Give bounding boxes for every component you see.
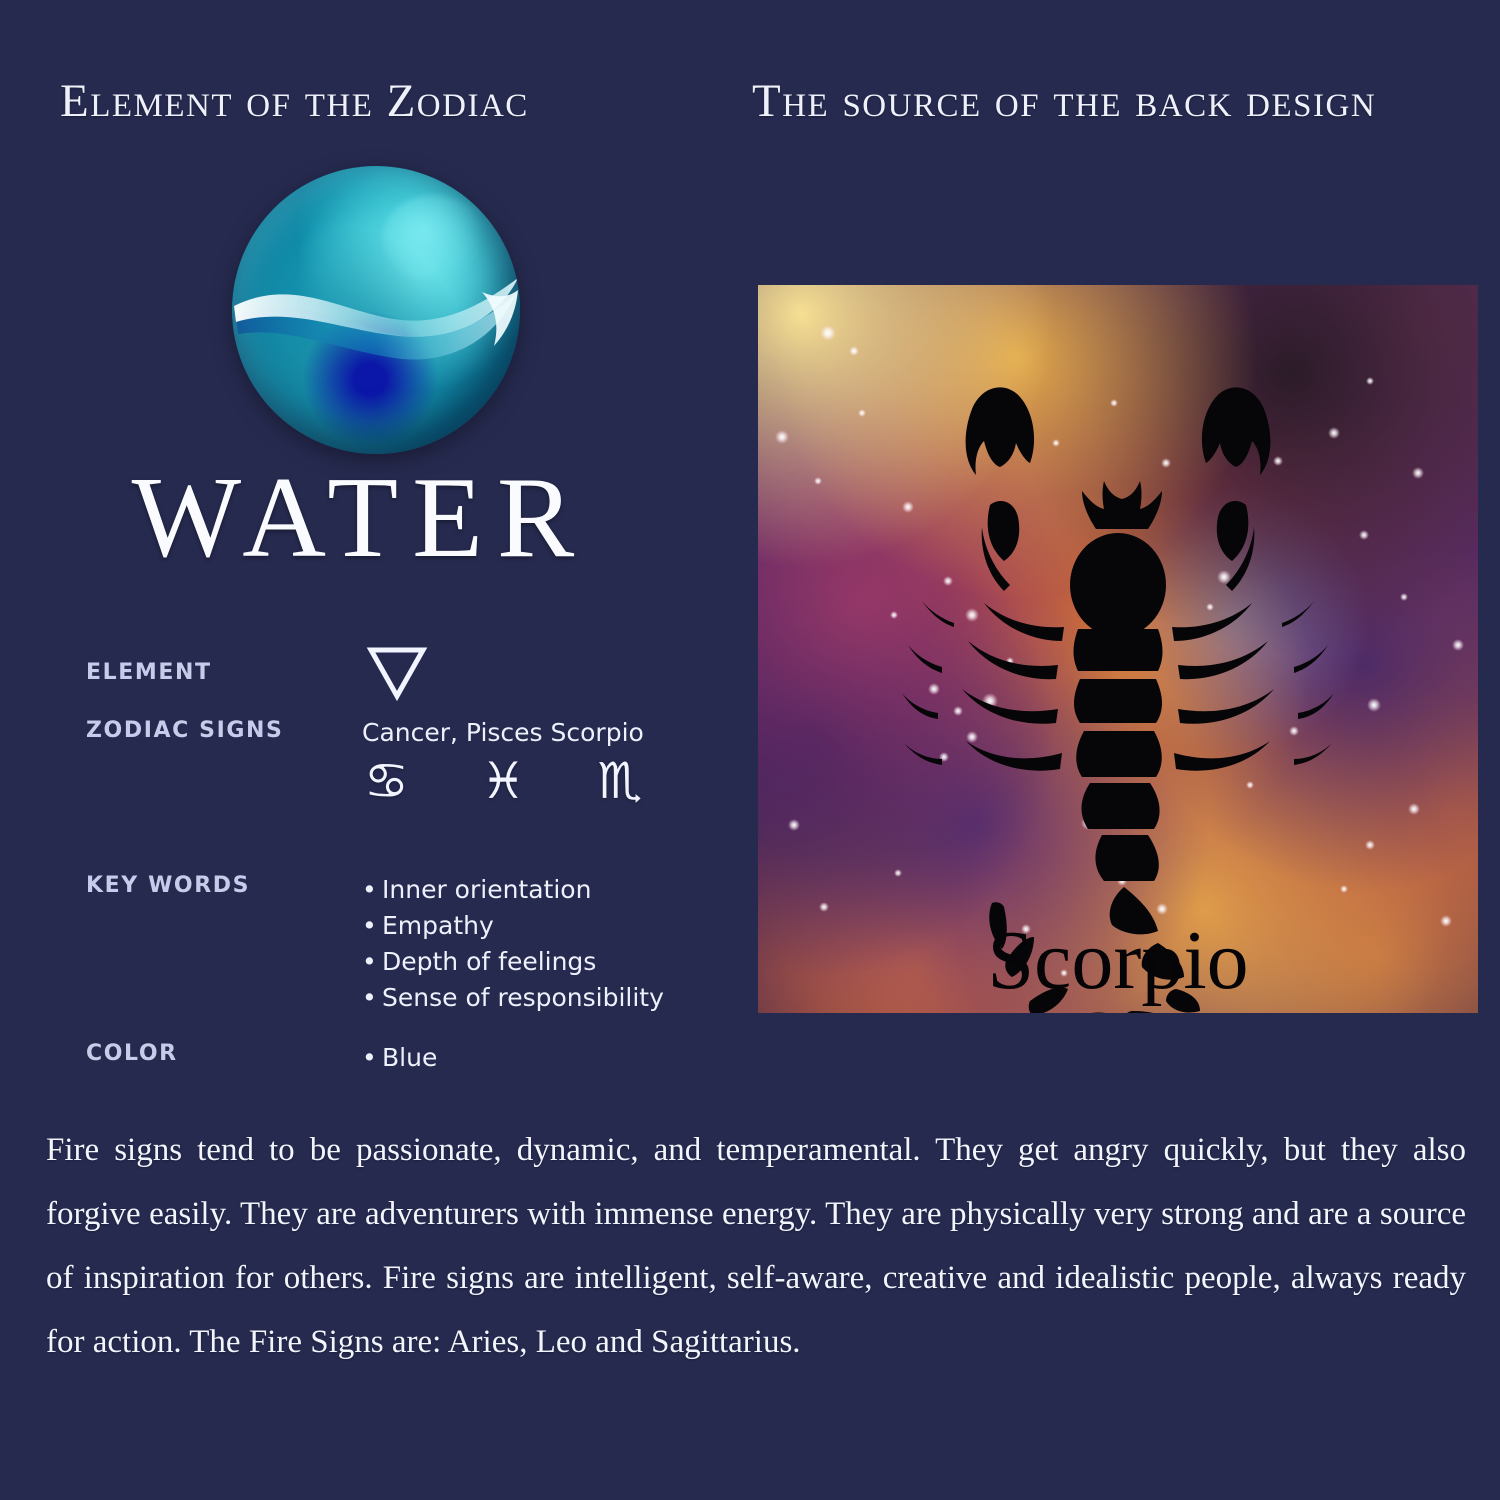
zodiac-glyph-row: ♋ ♓ ♏ — [364, 756, 670, 806]
value-zodiac-signs: Cancer, Pisces Scorpio — [362, 718, 644, 747]
list-item: Inner orientation — [362, 872, 664, 908]
color-list: Blue — [362, 1040, 437, 1076]
sign-name-label: Scorpio — [758, 919, 1478, 1003]
label-element: ELEMENT — [86, 660, 212, 685]
key-words-list: Inner orientation Empathy Depth of feeli… — [362, 872, 664, 1016]
list-item: Sense of responsibility — [362, 980, 664, 1016]
infographic-page: Element of the Zodiac The source of the … — [0, 0, 1500, 1500]
label-key-words: KEY WORDS — [86, 873, 250, 898]
orb-sphere — [232, 166, 520, 454]
label-color: COLOR — [86, 1041, 178, 1066]
water-orb-icon — [232, 166, 520, 454]
orb-wave-overlay — [232, 166, 520, 454]
left-column-heading: Element of the Zodiac — [60, 74, 529, 128]
water-triangle-icon — [366, 644, 428, 706]
scorpio-artwork: Scorpio — [758, 285, 1478, 1013]
list-item: Empathy — [362, 908, 664, 944]
right-column-heading: The source of the back design — [752, 74, 1376, 128]
list-item: Blue — [362, 1040, 437, 1076]
scorpion-silhouette-icon — [758, 285, 1478, 1013]
description-paragraph: Fire signs tend to be passionate, dynami… — [46, 1118, 1466, 1374]
label-zodiac-signs: ZODIAC SIGNS — [86, 718, 283, 743]
list-item: Depth of feelings — [362, 944, 664, 980]
element-title: WATER — [0, 460, 720, 576]
